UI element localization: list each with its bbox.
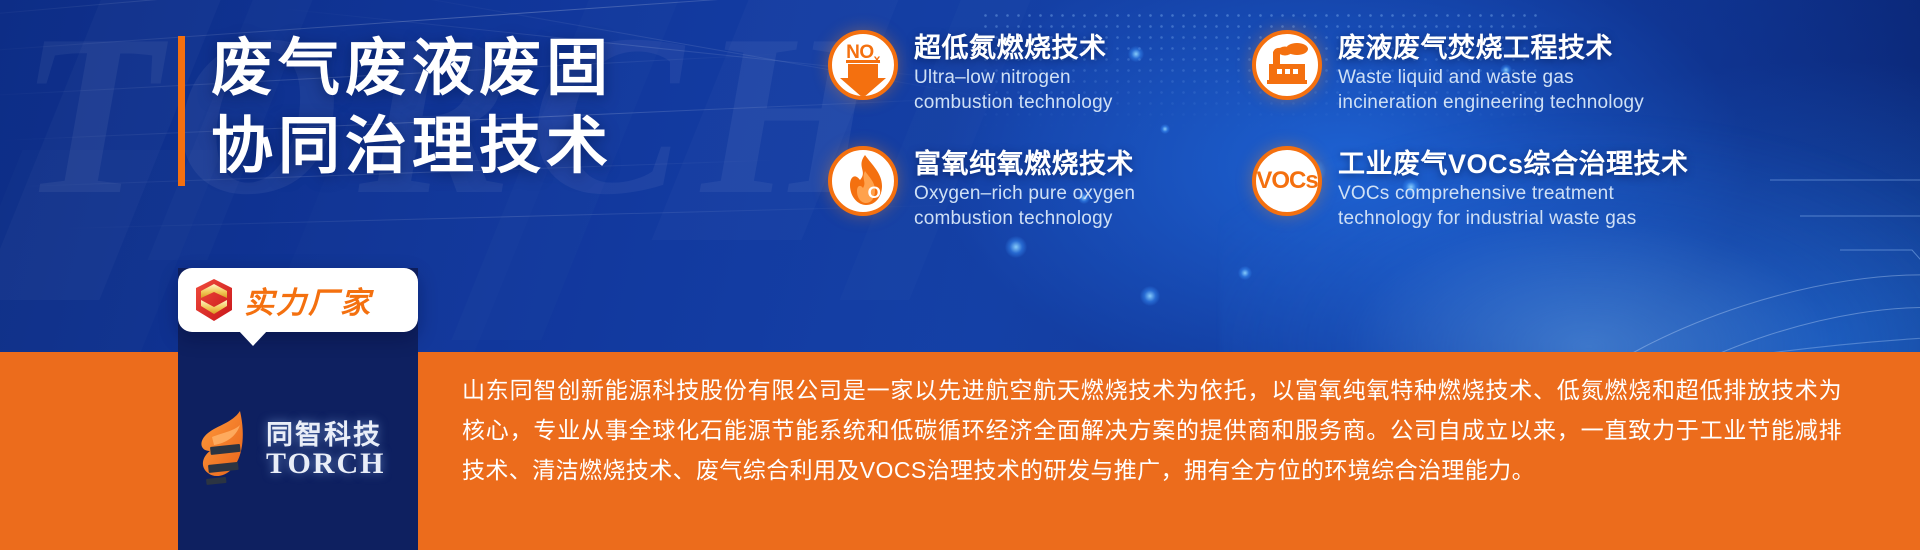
title-accent-bar [178, 36, 185, 186]
title-line-1: 废气废液废固 [211, 32, 613, 106]
left-orange-strip [0, 352, 178, 550]
feature-item-incineration: 废液废气焚烧工程技术 Waste liquid and waste gas in… [1252, 30, 1888, 138]
logo-name-cn: 同智科技 [266, 422, 385, 449]
feature-subtitle-line1: VOCs comprehensive treatment [1338, 181, 1689, 206]
feature-title: 富氧纯氧燃烧技术 [914, 148, 1135, 181]
shield-award-icon [194, 278, 234, 322]
o2-icon-label: O2 [868, 184, 887, 208]
flame-o2-icon: O2 [828, 146, 898, 216]
vocs-icon-label: VOCs [1256, 167, 1317, 195]
feature-title: 废液废气焚烧工程技术 [1338, 32, 1644, 65]
bokeh-dot [1238, 266, 1252, 280]
feature-subtitle-line1: Oxygen–rich pure oxygen [914, 181, 1135, 206]
logo-name-en: TORCH [266, 449, 385, 479]
title-line-2: 协同治理技术 [211, 110, 613, 184]
feature-item-oxygen: O2 富氧纯氧燃烧技术 Oxygen–rich pure oxygen comb… [828, 146, 1228, 254]
feature-subtitle-line2: combustion technology [914, 90, 1113, 115]
feature-item-nox: NOx 超低氮燃烧技术 Ultra–low nitrogen combustio… [828, 30, 1228, 138]
badge-pointer [238, 330, 268, 346]
feature-subtitle-line2: incineration engineering technology [1338, 90, 1644, 115]
torch-flame-icon [188, 407, 260, 493]
feature-subtitle-line2: combustion technology [914, 206, 1135, 231]
badge-label: 实力厂家 [244, 278, 372, 322]
feature-item-vocs: VOCs 工业废气VOCs综合治理技术 VOCs comprehensive t… [1252, 146, 1888, 254]
factory-smoke-icon [1252, 30, 1322, 100]
feature-list: NOx 超低氮燃烧技术 Ultra–low nitrogen combustio… [828, 30, 1888, 254]
promotional-banner: TORCH [0, 0, 1920, 550]
feature-subtitle-line2: technology for industrial waste gas [1338, 206, 1689, 231]
company-logo[interactable]: 同智科技 TORCH [188, 395, 413, 505]
feature-subtitle-line1: Ultra–low nitrogen [914, 65, 1113, 90]
bokeh-dot [1140, 286, 1160, 306]
vocs-text-icon: VOCs [1252, 146, 1322, 216]
strength-manufacturer-badge[interactable]: 实力厂家 [178, 268, 418, 332]
company-description: 山东同智创新能源科技股份有限公司是一家以先进航空航天燃烧技术为依托，以富氧纯氧特… [462, 370, 1842, 490]
description-text: 山东同智创新能源科技股份有限公司是一家以先进航空航天燃烧技术为依托，以富氧纯氧特… [462, 370, 1842, 490]
banner-title: 废气废液废固 协同治理技术 [178, 32, 613, 186]
feature-subtitle-line1: Waste liquid and waste gas [1338, 65, 1644, 90]
feature-title: 工业废气VOCs综合治理技术 [1338, 148, 1689, 181]
nox-down-arrow-icon: NOx [828, 30, 898, 100]
feature-title: 超低氮燃烧技术 [914, 32, 1113, 65]
